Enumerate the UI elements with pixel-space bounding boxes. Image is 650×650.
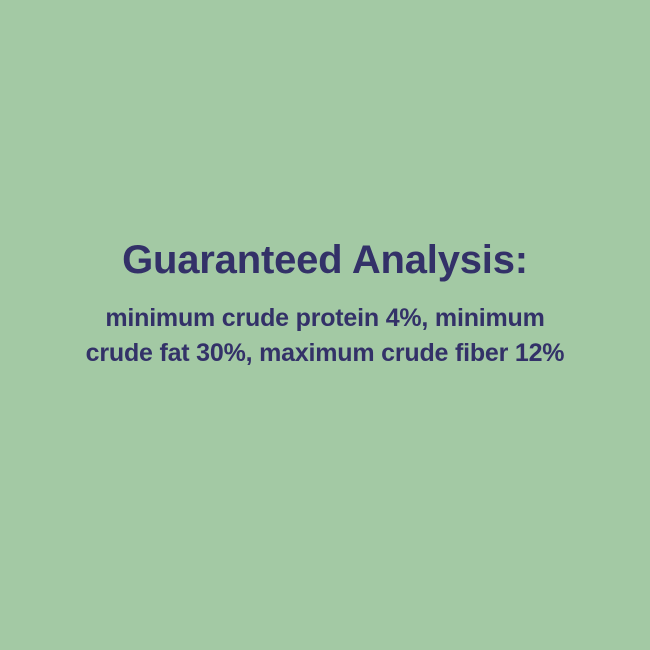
- analysis-text-block: Guaranteed Analysis: minimum crude prote…: [0, 236, 650, 371]
- guaranteed-analysis-panel: Guaranteed Analysis: minimum crude prote…: [0, 0, 650, 650]
- analysis-line-2: crude fat 30%, maximum crude fiber 12%: [0, 336, 650, 371]
- page-title: Guaranteed Analysis:: [0, 236, 650, 284]
- guaranteed-analysis-body: minimum crude protein 4%, minimum crude …: [0, 301, 650, 371]
- analysis-line-1: minimum crude protein 4%, minimum: [0, 301, 650, 336]
